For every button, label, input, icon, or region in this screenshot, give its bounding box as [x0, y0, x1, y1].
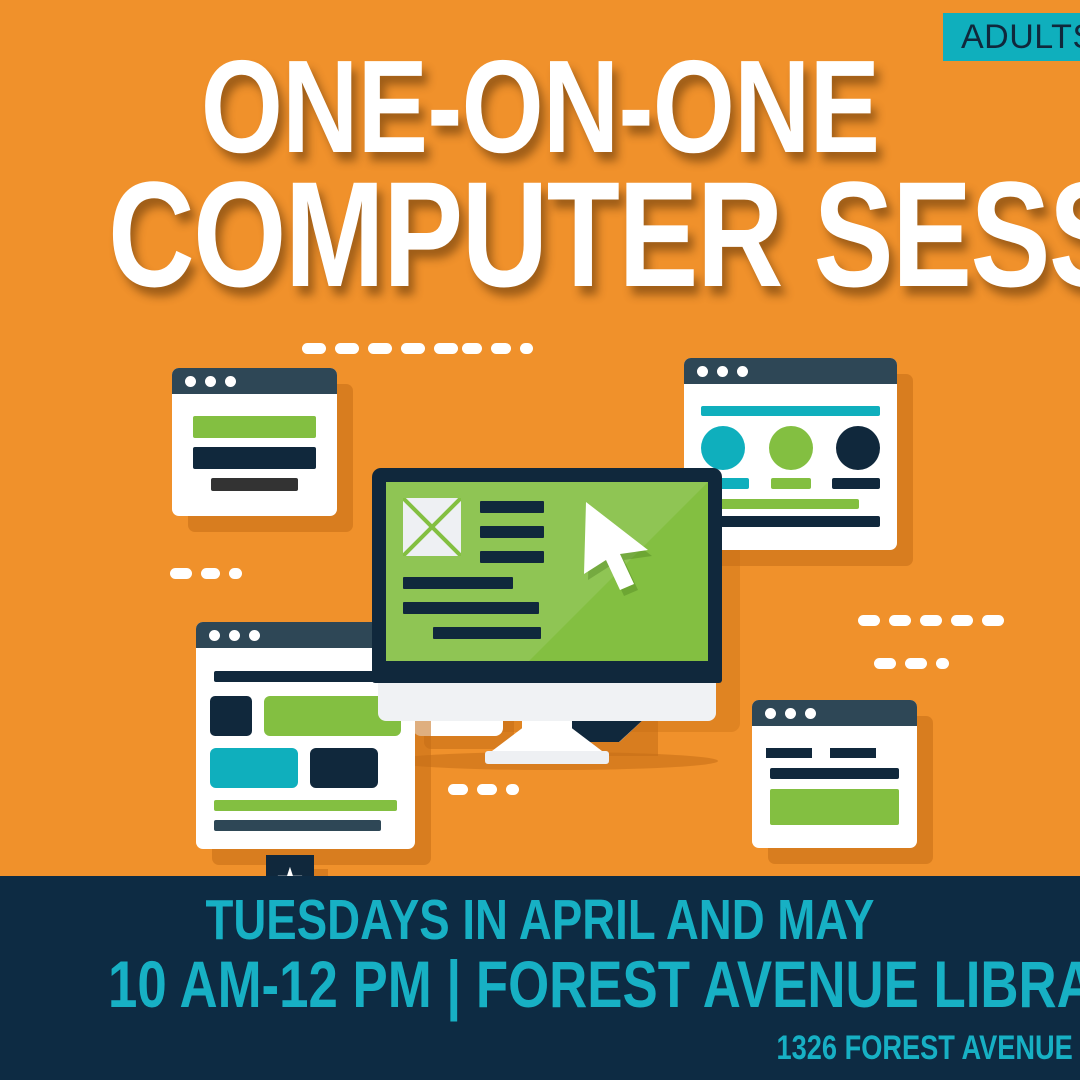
- window-dot-icon: [229, 630, 240, 641]
- avatar-circle-navy: [836, 426, 880, 470]
- screen-text-line: [403, 602, 539, 614]
- monitor-chin: [378, 683, 716, 721]
- avatar-circle-teal: [701, 426, 745, 470]
- window-dot-icon: [225, 376, 236, 387]
- dash-decoration-3: [170, 568, 242, 579]
- tile-teal: [210, 748, 298, 788]
- audience-badge-label: ADULTS: [961, 20, 1080, 54]
- event-time-location-line: 10 AM-12 PM | FOREST AVENUE LIBRARY: [108, 951, 972, 1017]
- content-bar-slate: [214, 820, 381, 831]
- window-dot-icon: [765, 708, 776, 719]
- window-content: [752, 726, 917, 839]
- screen-text-line: [433, 627, 541, 639]
- caption-bar-green: [771, 478, 811, 489]
- content-bar-green: [214, 800, 397, 811]
- caption-bar-row: [701, 478, 880, 489]
- dash-decoration-2: [462, 343, 533, 354]
- window-content: [172, 394, 337, 505]
- window-dot-icon: [249, 630, 260, 641]
- dash-decoration-6: [448, 784, 519, 795]
- placeholder-cross-icon: [403, 498, 461, 556]
- screen-text-line: [480, 526, 544, 538]
- dash-decoration-4: [858, 615, 1004, 626]
- window-dot-icon: [717, 366, 728, 377]
- dash-decoration-5: [874, 658, 949, 669]
- event-details-footer: TUESDAYS IN APRIL AND MAY 10 AM-12 PM | …: [0, 876, 1080, 1080]
- dash-decoration-1: [302, 343, 458, 354]
- browser-window-bottom-right: [752, 700, 917, 848]
- screen-text-line: [403, 577, 513, 589]
- mouse-pointer-arrow-icon: [582, 500, 664, 590]
- browser-window-top-left: [172, 368, 337, 516]
- content-bar-navy: [701, 516, 880, 527]
- content-bar-navy: [214, 671, 397, 682]
- content-bar-gray: [211, 478, 298, 491]
- event-address: 1326 FOREST AVENUE: [119, 1029, 1073, 1068]
- tile-row-2: [210, 748, 401, 788]
- content-bar-teal: [701, 406, 880, 416]
- content-bar-navy: [193, 447, 316, 469]
- tile-navy: [310, 748, 378, 788]
- window-titlebar: [752, 700, 917, 726]
- illustration-area: ★ ★: [0, 310, 1080, 880]
- avatar-circle-row: [701, 426, 880, 470]
- content-bar-navy: [766, 748, 812, 758]
- event-date-line: TUESDAYS IN APRIL AND MAY: [108, 892, 972, 949]
- audience-badge: ADULTS: [943, 13, 1080, 61]
- monitor-bezel: [372, 468, 722, 683]
- window-dot-icon: [785, 708, 796, 719]
- title-line-2: COMPUTER SESSIONS: [108, 163, 972, 306]
- monitor-screen: [386, 482, 708, 661]
- tile-navy: [210, 696, 252, 736]
- content-bar-green: [193, 416, 316, 438]
- window-dot-icon: [805, 708, 816, 719]
- content-bar-navy: [830, 748, 876, 758]
- avatar-circle-green: [769, 426, 813, 470]
- window-dot-icon: [737, 366, 748, 377]
- window-dot-icon: [697, 366, 708, 377]
- poster-canvas: ADULTS ONE-ON-ONE COMPUTER SESSIONS: [0, 0, 1080, 1080]
- monitor-base: [485, 751, 609, 764]
- window-dot-icon: [209, 630, 220, 641]
- content-block-green: [770, 789, 899, 825]
- content-bar-green: [701, 499, 859, 509]
- image-placeholder-icon: [403, 498, 461, 556]
- page-title: ONE-ON-ONE COMPUTER SESSIONS: [0, 44, 1080, 306]
- caption-bar-navy: [832, 478, 880, 489]
- window-dot-icon: [205, 376, 216, 387]
- desktop-monitor: [372, 468, 722, 732]
- screen-text-line: [480, 551, 544, 563]
- screen-text-line: [480, 501, 544, 513]
- window-titlebar: [684, 358, 897, 384]
- content-bar-navy: [770, 768, 899, 779]
- window-titlebar: [172, 368, 337, 394]
- split-bar-row: [766, 748, 903, 758]
- window-dot-icon: [185, 376, 196, 387]
